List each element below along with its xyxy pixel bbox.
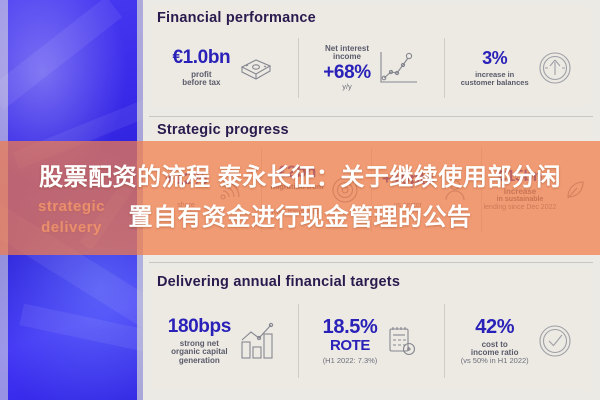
up-arrow-circle-icon [535, 48, 575, 88]
banknotes-icon [236, 53, 276, 83]
calculator-icon [383, 323, 419, 359]
metric-text: 3% increase in customer balances [461, 49, 529, 87]
headline-line-1: 股票配资的流程 泰永长征：关于继续使用部分闲 [39, 158, 561, 198]
metrics-row-financial-performance: €1.0bn profit before tax [151, 32, 591, 104]
metric-rote: 18.5% ROTE (H1 2022: 7.3%) [298, 298, 445, 384]
section-divider-1 [149, 116, 593, 117]
metric-text: 180bps strong net organic capital genera… [168, 317, 231, 365]
section-annual-targets: Delivering annual financial targets 180b… [151, 268, 591, 390]
metric-note: generation [168, 357, 231, 365]
headline-overlay-text: 股票配资的流程 泰永长征：关于继续使用部分闲 置自有资金进行现金管理的公告 [0, 141, 600, 255]
check-circle-icon [535, 321, 575, 361]
metric-text: 18.5% ROTE (H1 2022: 7.3%) [323, 317, 378, 365]
section-title-financial-performance: Financial performance [157, 10, 316, 26]
metric-sub-1: ROTE [323, 338, 378, 354]
metric-note: (H1 2022: 7.3%) [323, 357, 378, 365]
metrics-row-annual-targets: 180bps strong net organic capital genera… [151, 298, 591, 384]
metric-sub-2: income [323, 53, 371, 61]
section-divider-2 [149, 262, 593, 263]
metric-note: y/y [323, 83, 371, 91]
metric-text: Net interest income +68% y/y [323, 45, 371, 92]
infographic-slide: strategic delivery Financial performance… [0, 0, 600, 400]
metric-value: €1.0bn [172, 48, 230, 68]
bar-chart-icon [237, 320, 281, 362]
metric-text: €1.0bn profit before tax [172, 48, 230, 88]
section-title-annual-targets: Delivering annual financial targets [157, 274, 400, 290]
line-chart-icon [377, 48, 419, 88]
metric-text: 42% cost to income ratio (vs 50% in H1 2… [461, 317, 529, 366]
metric-customer-balances: 3% increase in customer balances [444, 32, 591, 104]
metric-organic-capital-generation: 180bps strong net organic capital genera… [151, 298, 298, 384]
metric-cost-to-income-ratio: 42% cost to income ratio (vs 50% in H1 2… [444, 298, 591, 384]
metric-value: 18.5% [323, 317, 378, 338]
metric-value: 3% [461, 49, 529, 68]
metric-value: +68% [323, 63, 371, 83]
metric-sub-2: before tax [172, 79, 230, 87]
section-financial-performance: Financial performance €1.0bn profit befo… [151, 6, 591, 106]
metric-note: (vs 50% in H1 2022) [461, 357, 529, 365]
metric-net-interest-income: Net interest income +68% y/y [298, 32, 445, 104]
metric-profit-before-tax: €1.0bn profit before tax [151, 32, 298, 104]
metric-sub-2: customer balances [461, 79, 529, 87]
metric-value: 42% [461, 317, 529, 338]
section-title-strategic-progress: Strategic progress [157, 122, 289, 138]
headline-line-2: 置自有资金进行现金管理的公告 [129, 198, 472, 238]
metric-value: 180bps [168, 317, 231, 337]
